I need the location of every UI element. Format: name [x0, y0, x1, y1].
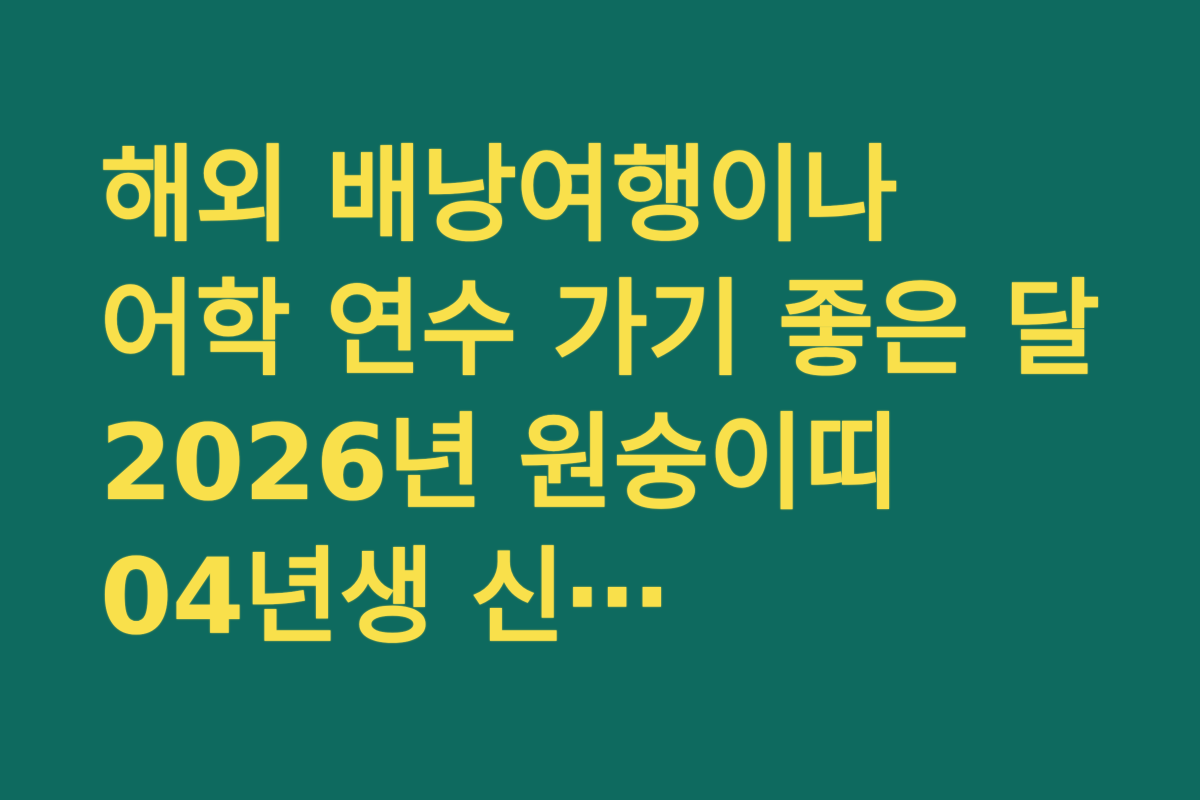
thumbnail-card: 해외 배낭여행이나 어학 연수 가기 좋은 달 2026년 원숭이띠 04년생 … [0, 0, 1200, 800]
headline-block: 해외 배낭여행이나 어학 연수 가기 좋은 달 2026년 원숭이띠 04년생 … [0, 128, 1200, 664]
page-title: 해외 배낭여행이나 어학 연수 가기 좋은 달 2026년 원숭이띠 04년생 … [100, 128, 1100, 664]
